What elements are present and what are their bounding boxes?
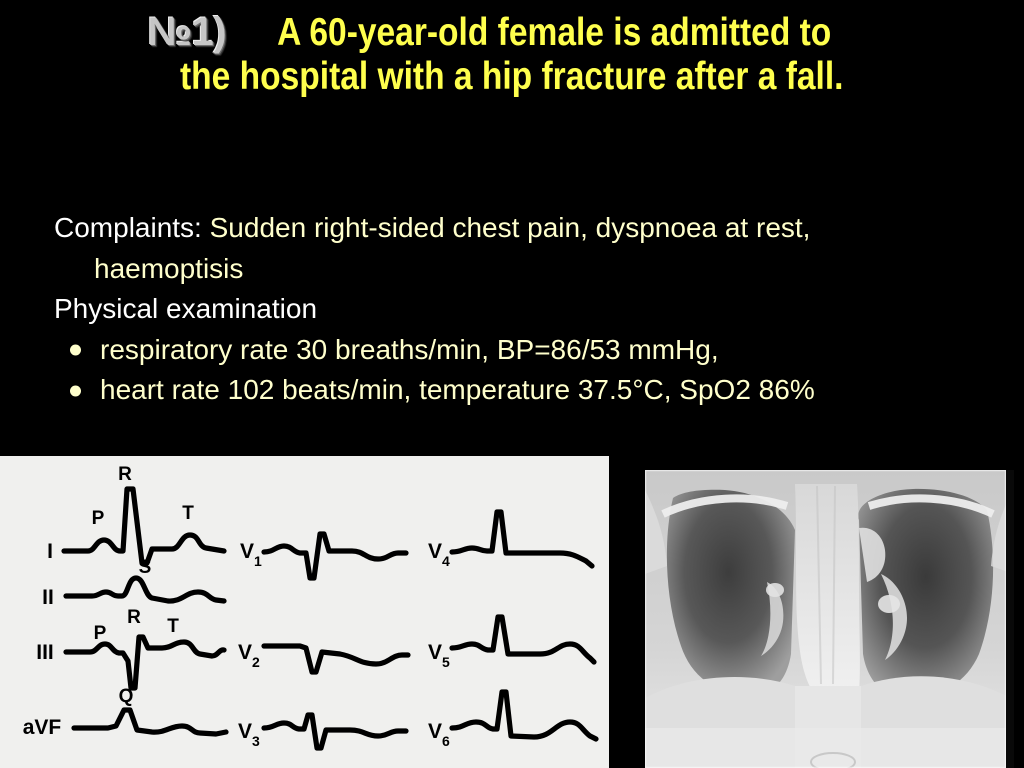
- physical-examination-heading: Physical examination: [54, 289, 1004, 330]
- ecg-wave-label-P2: P: [94, 623, 107, 644]
- title-text-line-2: the hospital with a hip fracture after a…: [180, 55, 843, 99]
- ecg-trace-aVF: [74, 710, 226, 734]
- xray-mediastinum: [795, 484, 860, 692]
- ecg-svg: I P R S T II III P R T Q aVF V 1 V 2 V 3: [0, 456, 609, 768]
- ecg-lead-sub-V6: 6: [442, 733, 450, 749]
- ecg-trace-V3: [264, 715, 406, 748]
- chest-xray-svg: [645, 470, 1014, 768]
- title-line-2: the hospital with a hip fracture after a…: [0, 55, 1024, 99]
- ecg-lead-label-V2: V: [238, 641, 252, 664]
- xray-right-margin: [1006, 470, 1014, 768]
- chest-xray-image: [645, 470, 1014, 768]
- ecg-lead-sub-V4: 4: [442, 553, 450, 569]
- ecg-lead-sub-V3: 3: [252, 733, 260, 749]
- ecg-lead-label-III: III: [36, 641, 54, 664]
- ecg-lead-label-V5: V: [428, 641, 442, 664]
- complaints-line: Complaints: Sudden right-sided chest pai…: [54, 208, 1004, 249]
- ecg-trace-III: [66, 637, 224, 688]
- ecg-lead-label-I: I: [47, 540, 53, 563]
- complaints-wrap-line: haemoptisis: [54, 249, 1004, 290]
- question-number: №1): [147, 10, 232, 54]
- complaints-label: Complaints:: [54, 212, 202, 243]
- ecg-lead-label-V1: V: [240, 540, 254, 563]
- complaints-value: Sudden right-sided chest pain, dyspnoea …: [202, 212, 811, 243]
- ecg-wave-label-T: T: [182, 503, 194, 524]
- ecg-wave-label-P: P: [92, 508, 105, 529]
- case-body: Complaints: Sudden right-sided chest pai…: [54, 208, 1004, 411]
- ecg-wave-label-R2: R: [127, 607, 141, 628]
- bullet-icon: [70, 385, 81, 396]
- ecg-trace-V6: [452, 692, 596, 739]
- ecg-lead-label-aVF: aVF: [23, 716, 62, 739]
- ecg-trace-II: [66, 578, 224, 601]
- ecg-image: I P R S T II III P R T Q aVF V 1 V 2 V 3: [0, 456, 609, 768]
- ecg-trace-V4: [452, 512, 592, 566]
- finding-text: heart rate 102 beats/min, temperature 37…: [100, 374, 815, 405]
- bullet-icon: [70, 345, 81, 356]
- ecg-lead-label-V3: V: [238, 720, 252, 743]
- ecg-lead-sub-V5: 5: [442, 654, 450, 670]
- finding-item: heart rate 102 beats/min, temperature 37…: [54, 370, 1004, 411]
- slide-title: №1)A 60-year-old female is admitted to t…: [0, 10, 1024, 98]
- ecg-lead-sub-V1: 1: [254, 553, 262, 569]
- xray-abdomen-shadow: [645, 728, 1014, 768]
- ecg-lead-sub-V2: 2: [252, 654, 260, 670]
- ecg-lead-label-II: II: [42, 586, 54, 609]
- ecg-trace-I: [64, 489, 224, 563]
- ecg-lead-label-V4: V: [428, 540, 442, 563]
- ecg-lead-label-V6: V: [428, 720, 442, 743]
- ecg-trace-V1: [264, 534, 406, 578]
- ecg-trace-V2: [264, 646, 408, 672]
- title-line-1: №1)A 60-year-old female is admitted to: [0, 10, 1024, 55]
- ecg-wave-label-T2: T: [167, 616, 179, 637]
- title-text-line-1: A 60-year-old female is admitted to: [277, 11, 831, 55]
- ecg-wave-label-R: R: [118, 464, 132, 485]
- ecg-trace-V5: [452, 617, 594, 662]
- finding-text: respiratory rate 30 breaths/min, BP=86/5…: [100, 334, 719, 365]
- finding-item: respiratory rate 30 breaths/min, BP=86/5…: [54, 330, 1004, 371]
